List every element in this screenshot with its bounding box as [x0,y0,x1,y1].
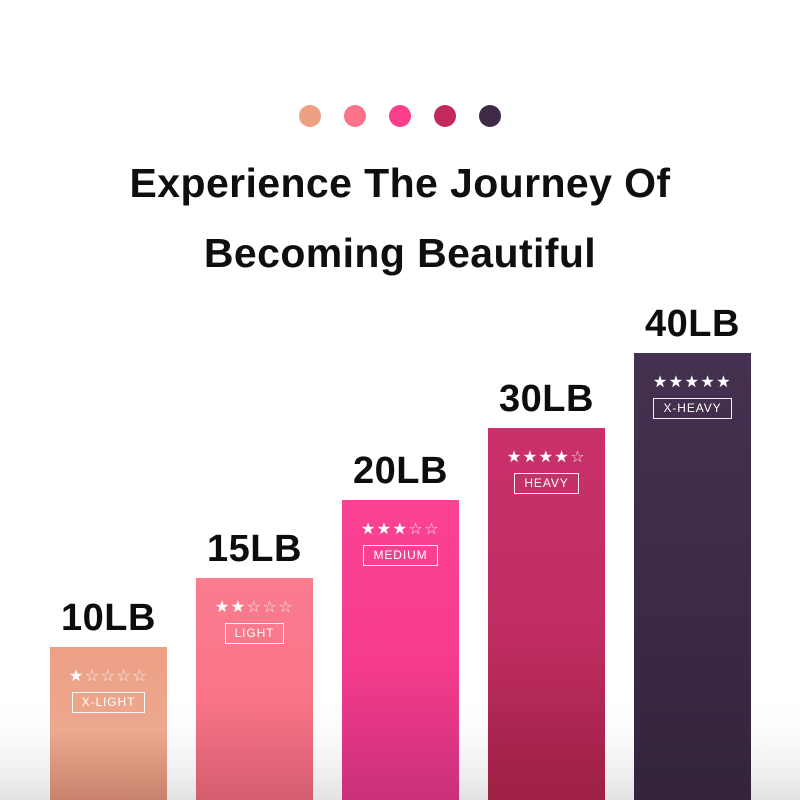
bar-group-heavy[interactable]: ★★★★☆HEAVY30LB [488,428,605,800]
bar-group-light[interactable]: ★★☆☆☆LIGHT15LB [196,578,313,800]
star-filled-icon: ★★★★★ [653,374,732,391]
star-empty-icon: ☆☆ [408,521,440,538]
level-badge: X-LIGHT [72,692,146,713]
level-badge: HEAVY [514,473,578,494]
weight-label: 15LB [196,530,313,568]
bar-10lb[interactable]: ★☆☆☆☆X-LIGHT [50,647,167,800]
level-badge: LIGHT [225,623,285,644]
bar-30lb[interactable]: ★★★★☆HEAVY [488,428,605,800]
level-badge: MEDIUM [363,545,437,566]
resistance-bar-chart: ★☆☆☆☆X-LIGHT10LB★★☆☆☆LIGHT15LB★★★☆☆MEDIU… [0,0,800,800]
poster-canvas: Experience The Journey Of Becoming Beaut… [0,0,800,800]
star-filled-icon: ★★★★ [507,449,570,466]
rating-stars: ★★★★☆ [507,450,586,466]
bar-label-block: ★★★★☆HEAVY [488,450,605,494]
bar-label-block: ★★★★★X-HEAVY [634,375,751,419]
star-filled-icon: ★★ [215,599,247,616]
weight-label: 20LB [342,452,459,490]
bar-group-x-heavy[interactable]: ★★★★★X-HEAVY40LB [634,353,751,800]
star-empty-icon: ☆ [570,449,586,466]
bar-label-block: ★★☆☆☆LIGHT [196,600,313,644]
rating-stars: ★☆☆☆☆ [69,669,148,685]
bar-label-block: ★★★☆☆MEDIUM [342,522,459,566]
bar-20lb[interactable]: ★★★☆☆MEDIUM [342,500,459,800]
star-filled-icon: ★★★ [361,521,409,538]
weight-label: 30LB [488,380,605,418]
star-empty-icon: ☆☆☆☆ [85,668,148,685]
bar-label-block: ★☆☆☆☆X-LIGHT [50,669,167,713]
bar-group-medium[interactable]: ★★★☆☆MEDIUM20LB [342,500,459,800]
weight-label: 10LB [50,599,167,637]
bar-40lb[interactable]: ★★★★★X-HEAVY [634,353,751,800]
rating-stars: ★★☆☆☆ [215,600,294,616]
weight-label: 40LB [634,305,751,343]
star-empty-icon: ☆☆☆ [247,599,295,616]
rating-stars: ★★★☆☆ [361,522,440,538]
level-badge: X-HEAVY [653,398,731,419]
rating-stars: ★★★★★ [653,375,732,391]
star-filled-icon: ★ [69,668,85,685]
bar-group-x-light[interactable]: ★☆☆☆☆X-LIGHT10LB [50,647,167,800]
bar-15lb[interactable]: ★★☆☆☆LIGHT [196,578,313,800]
